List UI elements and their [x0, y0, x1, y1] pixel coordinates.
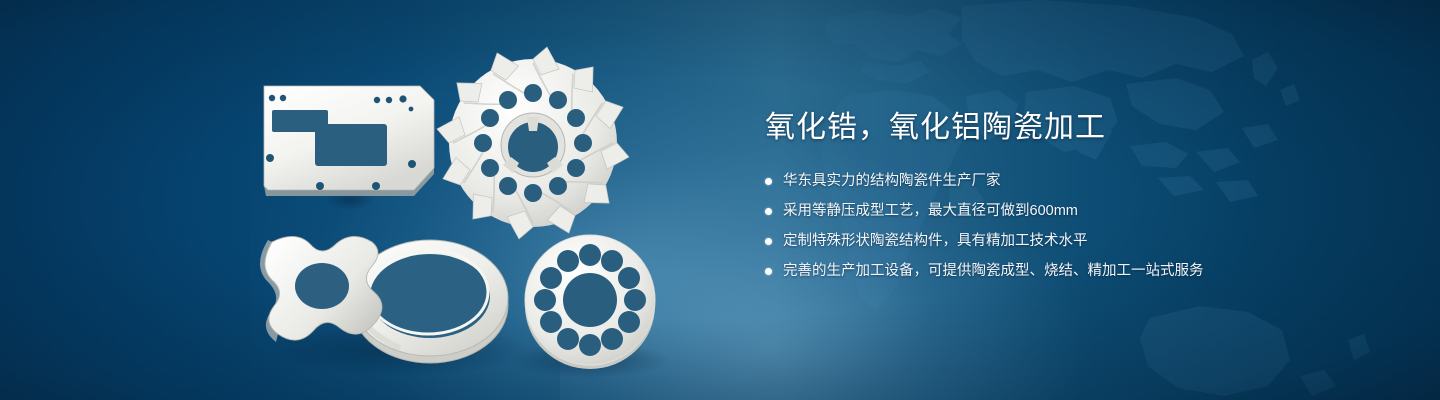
banner-copy: 氧化锆，氧化铝陶瓷加工 华东具实力的结构陶瓷件生产厂家 采用等静压成型工艺，最大…	[765, 108, 1305, 290]
feature-text: 完善的生产加工设备，可提供陶瓷成型、烧结、精加工一站式服务	[783, 260, 1204, 282]
bullet-dot-icon	[765, 268, 772, 275]
bullet-dot-icon	[765, 208, 772, 215]
part-perforated-disc	[525, 235, 655, 369]
bullet-dot-icon	[765, 238, 772, 245]
ceramic-products-photo	[0, 0, 720, 400]
part-cross-plate	[260, 236, 382, 342]
list-item: 定制特殊形状陶瓷结构件，具有精加工技术水平	[765, 230, 1305, 252]
page-title: 氧化锆，氧化铝陶瓷加工	[765, 108, 1305, 148]
part-flat-plate	[264, 86, 434, 196]
feature-list: 华东具实力的结构陶瓷件生产厂家 采用等静压成型工艺，最大直径可做到600mm 定…	[765, 170, 1305, 282]
part-impeller	[437, 47, 629, 239]
bullet-dot-icon	[765, 178, 772, 185]
list-item: 华东具实力的结构陶瓷件生产厂家	[765, 170, 1305, 192]
feature-text: 采用等静压成型工艺，最大直径可做到600mm	[783, 200, 1078, 222]
hero-banner: 氧化锆，氧化铝陶瓷加工 华东具实力的结构陶瓷件生产厂家 采用等静压成型工艺，最大…	[0, 0, 1440, 400]
feature-text: 定制特殊形状陶瓷结构件，具有精加工技术水平	[783, 230, 1088, 252]
list-item: 采用等静压成型工艺，最大直径可做到600mm	[765, 200, 1305, 222]
list-item: 完善的生产加工设备，可提供陶瓷成型、烧结、精加工一站式服务	[765, 260, 1305, 282]
feature-text: 华东具实力的结构陶瓷件生产厂家	[783, 170, 1001, 192]
